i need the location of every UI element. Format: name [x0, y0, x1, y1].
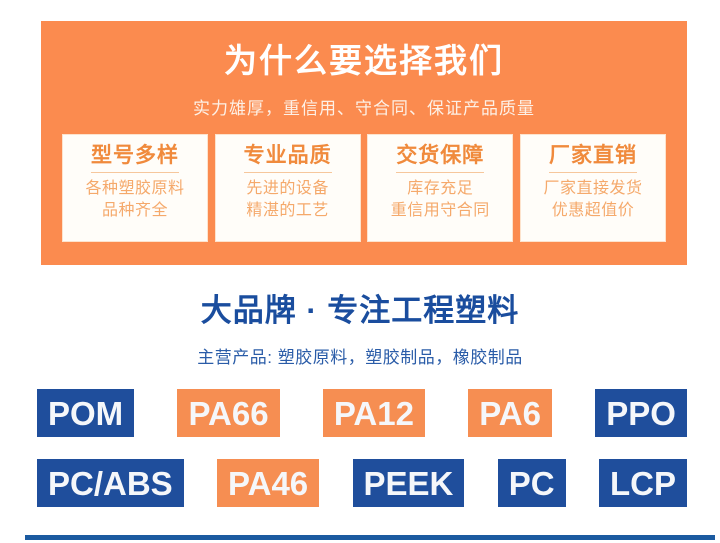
material-tag[interactable]: PC	[498, 459, 566, 507]
material-tag[interactable]: PA46	[217, 459, 319, 507]
feature-card: 交货保障 库存充足 重信用守合同	[367, 134, 513, 242]
feature-card-line: 厂家直接发货	[543, 178, 642, 200]
feature-card-list: 型号多样 各种塑胶原料 品种齐全 专业品质 先进的设备 精湛的工艺 交货保障 库…	[62, 134, 666, 242]
brand-heading: 大品牌 · 专注工程塑料	[0, 294, 720, 328]
hero-title: 为什么要选择我们	[41, 43, 687, 79]
material-tag[interactable]: LCP	[599, 459, 687, 507]
feature-card: 专业品质 先进的设备 精湛的工艺	[215, 134, 361, 242]
feature-card-line: 精湛的工艺	[246, 200, 329, 222]
material-tag[interactable]: PA66	[177, 389, 279, 437]
feature-card-title: 交货保障	[396, 143, 484, 173]
feature-card-line: 先进的设备	[246, 178, 329, 200]
bottom-divider	[25, 535, 715, 540]
hero-panel: 为什么要选择我们 实力雄厚，重信用、守合同、保证产品质量 型号多样 各种塑胶原料…	[41, 21, 687, 265]
feature-card-line: 优惠超值价	[552, 200, 635, 222]
brand-subheading: 主营产品: 塑胶原料，塑胶制品，橡胶制品	[0, 348, 720, 368]
feature-card-line: 库存充足	[407, 178, 473, 200]
material-tag[interactable]: PA6	[468, 389, 552, 437]
hero-subtitle: 实力雄厚，重信用、守合同、保证产品质量	[41, 99, 687, 119]
feature-card: 厂家直销 厂家直接发货 优惠超值价	[520, 134, 666, 242]
material-tag[interactable]: PPO	[595, 389, 687, 437]
feature-card-line: 重信用守合同	[391, 200, 490, 222]
feature-card-title: 专业品质	[244, 143, 332, 173]
material-tag[interactable]: POM	[37, 389, 134, 437]
feature-card-title: 厂家直销	[549, 143, 637, 173]
feature-card: 型号多样 各种塑胶原料 品种齐全	[62, 134, 208, 242]
material-tag[interactable]: PC/ABS	[37, 459, 184, 507]
material-tag-row-2: PC/ABS PA46 PEEK PC LCP	[37, 459, 687, 507]
material-tag[interactable]: PEEK	[353, 459, 465, 507]
feature-card-line: 品种齐全	[102, 200, 168, 222]
feature-card-title: 型号多样	[91, 143, 179, 173]
feature-card-line: 各种塑胶原料	[85, 178, 184, 200]
material-tag[interactable]: PA12	[323, 389, 425, 437]
material-tag-row-1: POM PA66 PA12 PA6 PPO	[37, 389, 687, 437]
